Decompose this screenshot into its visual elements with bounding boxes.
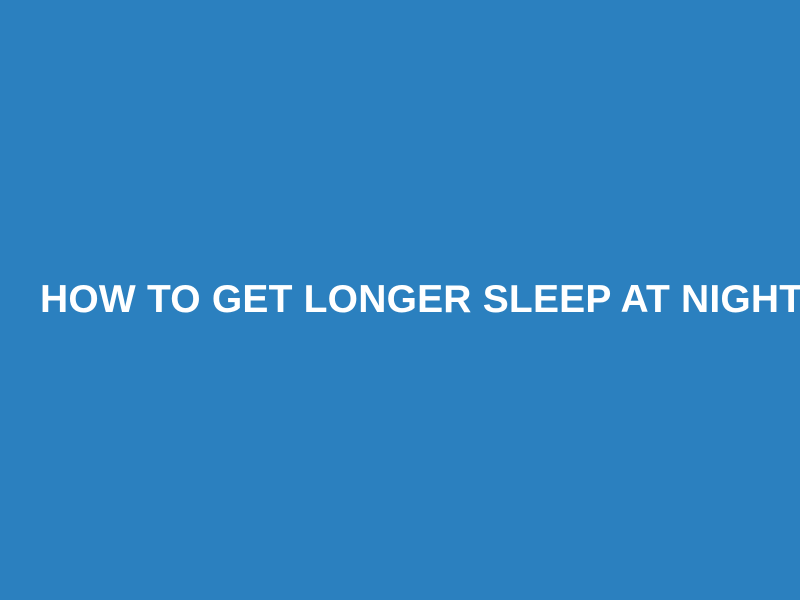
banner-headline: HOW TO GET LONGER SLEEP AT NIGHT?: [40, 277, 760, 323]
banner-background: HOW TO GET LONGER SLEEP AT NIGHT?: [0, 0, 800, 600]
banner-content: HOW TO GET LONGER SLEEP AT NIGHT?: [0, 277, 800, 323]
